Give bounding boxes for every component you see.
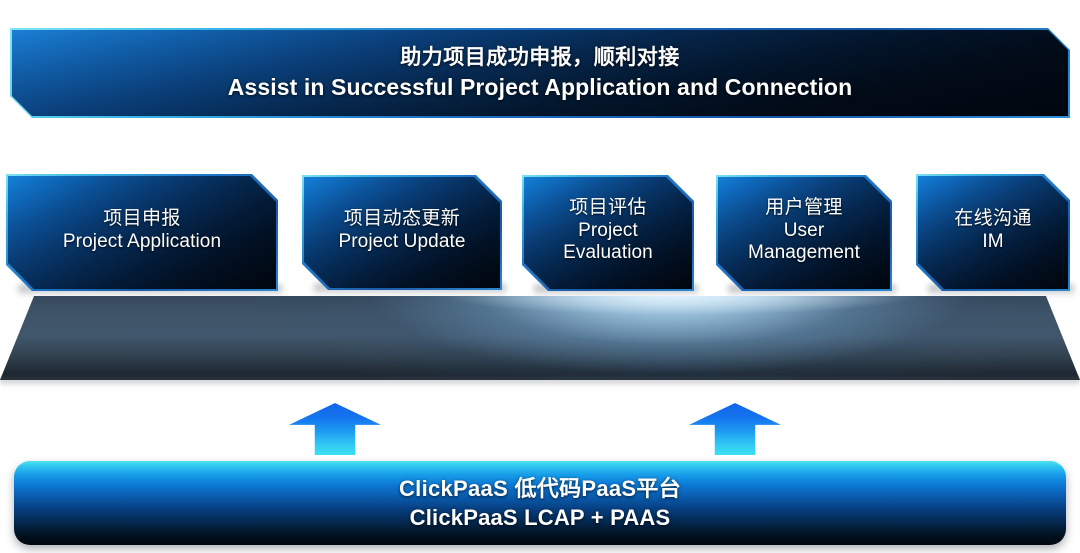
foundation-text-group: ClickPaaS 低代码PaaS平台 ClickPaaS LCAP + PAA… <box>14 461 1066 545</box>
card-text-group: 在线沟通 IM <box>918 176 1068 289</box>
card-label-cn: 在线沟通 <box>954 208 1032 231</box>
foundation-title-cn: ClickPaaS 低代码PaaS平台 <box>399 475 681 502</box>
card-label-cn: 项目动态更新 <box>344 208 460 231</box>
card-label-en-line1: User <box>784 220 825 243</box>
card-label-en-line1: Project <box>578 220 638 243</box>
platform-shadow <box>0 378 1080 387</box>
card-label-cn: 用户管理 <box>765 197 843 220</box>
card-label-cn: 项目评估 <box>569 197 647 220</box>
card-label-en-line2: Evaluation <box>563 242 653 265</box>
card-label-en: IM <box>982 231 1003 254</box>
card-project-evaluation[interactable]: 项目评估 Project Evaluation <box>524 177 692 289</box>
card-project-update[interactable]: 项目动态更新 Project Update <box>304 177 500 288</box>
platform-surface <box>0 296 1080 380</box>
card-label-en-line2: Management <box>748 242 860 265</box>
header-banner: 助力项目成功申报，顺利对接 Assist in Successful Proje… <box>12 30 1068 116</box>
card-text-group: 项目评估 Project Evaluation <box>524 177 692 289</box>
card-label-cn: 项目申报 <box>103 208 181 231</box>
banner-text-group: 助力项目成功申报，顺利对接 Assist in Successful Proje… <box>12 30 1068 116</box>
slide-canvas: 助力项目成功申报，顺利对接 Assist in Successful Proje… <box>0 0 1080 553</box>
arrow-shape <box>689 403 781 455</box>
card-text-group: 项目申报 Project Application <box>8 176 276 289</box>
banner-title-en: Assist in Successful Project Application… <box>228 73 852 101</box>
banner-title-cn: 助力项目成功申报，顺利对接 <box>400 45 680 71</box>
card-text-group: 用户管理 User Management <box>718 177 890 289</box>
card-project-application[interactable]: 项目申报 Project Application <box>8 176 276 289</box>
foundation-title-en: ClickPaaS LCAP + PAAS <box>410 504 671 531</box>
arrow-shape <box>289 403 381 455</box>
card-label-en: Project Update <box>338 231 465 254</box>
card-user-management[interactable]: 用户管理 User Management <box>718 177 890 289</box>
up-arrow-icon-right <box>689 403 781 455</box>
card-text-group: 项目动态更新 Project Update <box>304 177 500 288</box>
card-online-communication[interactable]: 在线沟通 IM <box>918 176 1068 289</box>
foundation-bar[interactable]: ClickPaaS 低代码PaaS平台 ClickPaaS LCAP + PAA… <box>14 461 1066 545</box>
card-label-en: Project Application <box>63 231 221 254</box>
platform-slab <box>0 296 1080 380</box>
up-arrow-icon-left <box>289 403 381 455</box>
